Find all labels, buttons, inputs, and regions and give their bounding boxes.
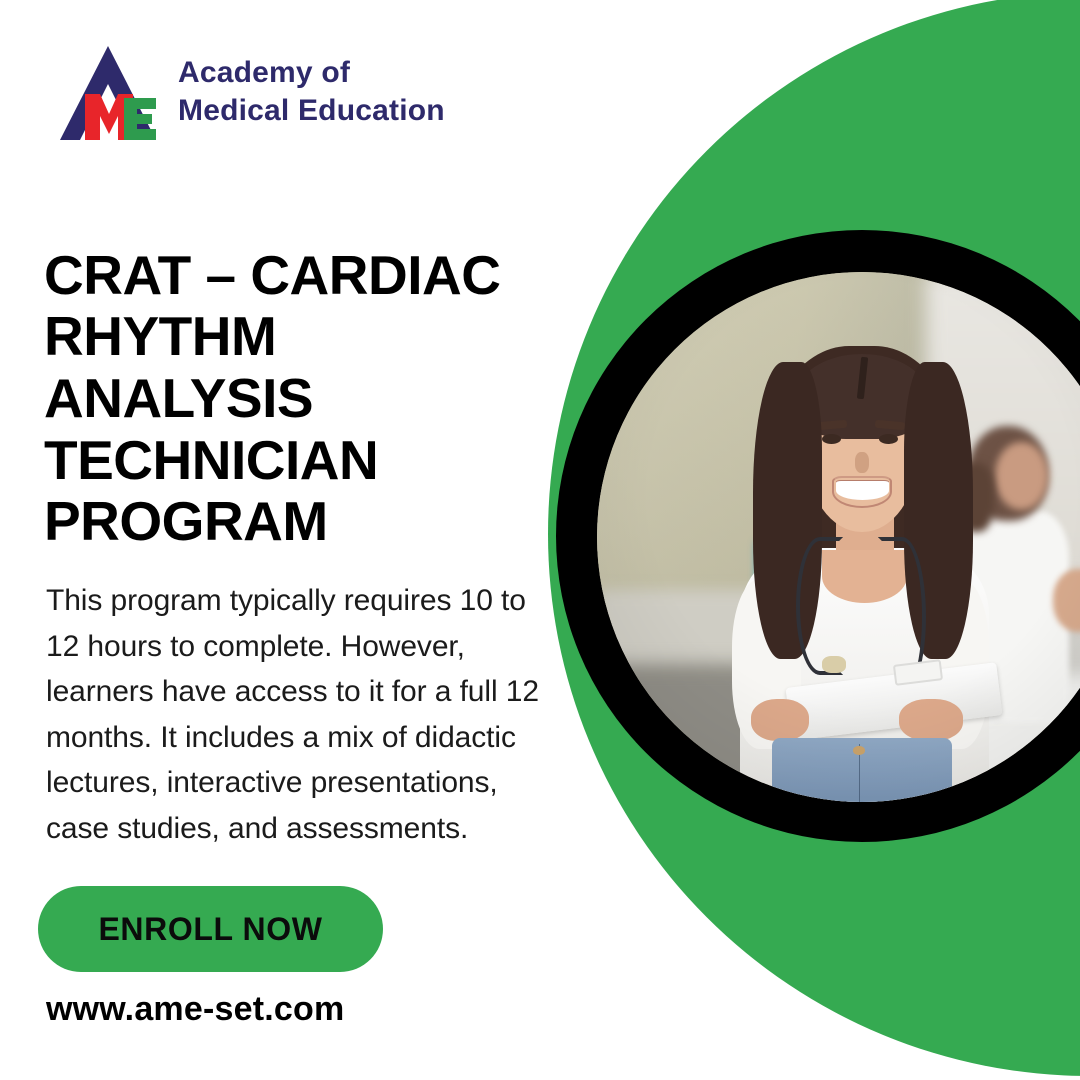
- promo-poster: Academy of Medical Education CRAT – CARD…: [0, 0, 1080, 1080]
- page-title: CRAT – CARDIAC RHYTHM ANALYSIS TECHNICIA…: [44, 245, 544, 553]
- brand-name-line2: Medical Education: [178, 94, 445, 127]
- enroll-now-button[interactable]: ENROLL NOW: [38, 886, 383, 972]
- website-url[interactable]: www.ame-set.com: [46, 990, 344, 1029]
- brand-name-line1: Academy of: [178, 56, 350, 89]
- photo-vignette: [597, 272, 1080, 802]
- brand-logo[interactable]: Academy of Medical Education: [52, 36, 445, 148]
- photo-background: [597, 272, 1080, 802]
- ame-triangle-logo-icon: [52, 36, 164, 148]
- brand-name: Academy of Medical Education: [178, 54, 445, 130]
- program-description: This program typically requires 10 to 12…: [46, 578, 541, 852]
- hero-photo: [597, 272, 1080, 802]
